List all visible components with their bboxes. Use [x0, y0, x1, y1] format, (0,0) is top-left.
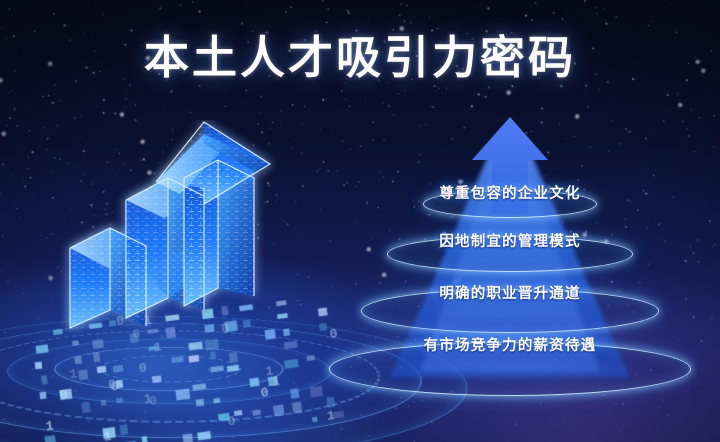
- tier-item[interactable]: 有市场竞争力的薪资待遇: [300, 110, 720, 400]
- funnel-pyramid: 尊重包容的企业文化 因地制宜的管理模式 明确的职业晋升通道 有市场竞争力的薪资待…: [300, 110, 720, 410]
- poster-canvas: 本土人才吸引力密码: [0, 0, 720, 442]
- tier-label: 有市场竞争力的薪资待遇: [424, 334, 597, 355]
- page-title: 本土人才吸引力密码: [0, 34, 720, 81]
- digital-growth-arrow: [18, 120, 318, 380]
